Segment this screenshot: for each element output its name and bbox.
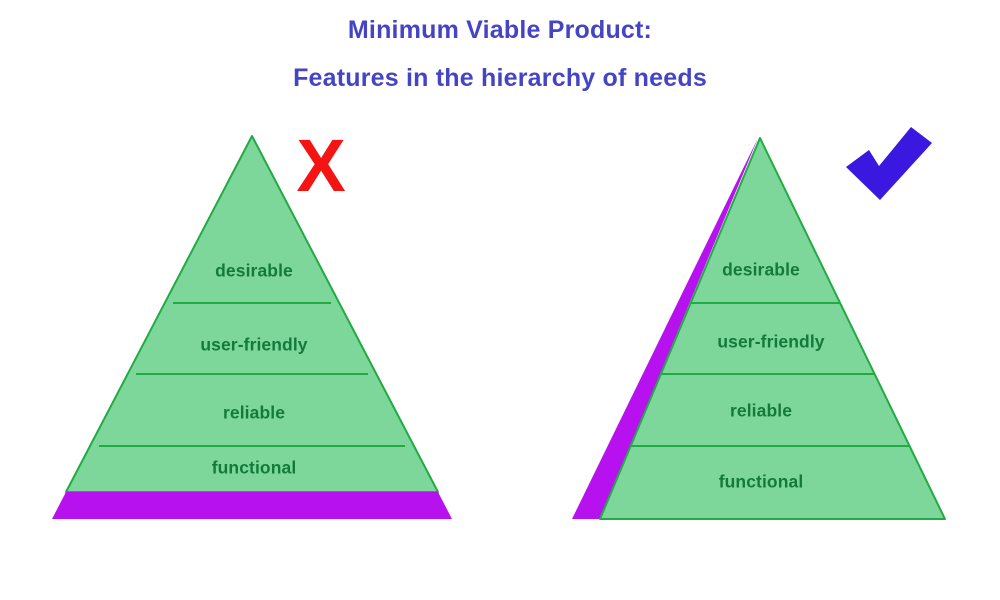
- left-label-reliable: reliable: [223, 403, 285, 424]
- left-pyramid-body: [66, 136, 438, 492]
- left-label-functional: functional: [212, 458, 297, 479]
- right-label-functional: functional: [719, 472, 804, 493]
- cross-icon: X: [296, 129, 345, 203]
- right-label-reliable: reliable: [730, 401, 792, 422]
- check-icon: [846, 127, 932, 200]
- left-label-user-friendly: user-friendly: [200, 335, 307, 356]
- diagram-canvas: Minimum Viable Product: Features in the …: [0, 0, 1000, 600]
- right-pyramid-group: [572, 138, 945, 519]
- pyramids-svg: [0, 0, 1000, 600]
- left-purple-horizontal-slice: [52, 492, 452, 519]
- right-pyramid-body: [600, 138, 945, 519]
- left-label-desirable: desirable: [215, 261, 293, 282]
- right-label-user-friendly: user-friendly: [717, 332, 824, 353]
- right-label-desirable: desirable: [722, 260, 800, 281]
